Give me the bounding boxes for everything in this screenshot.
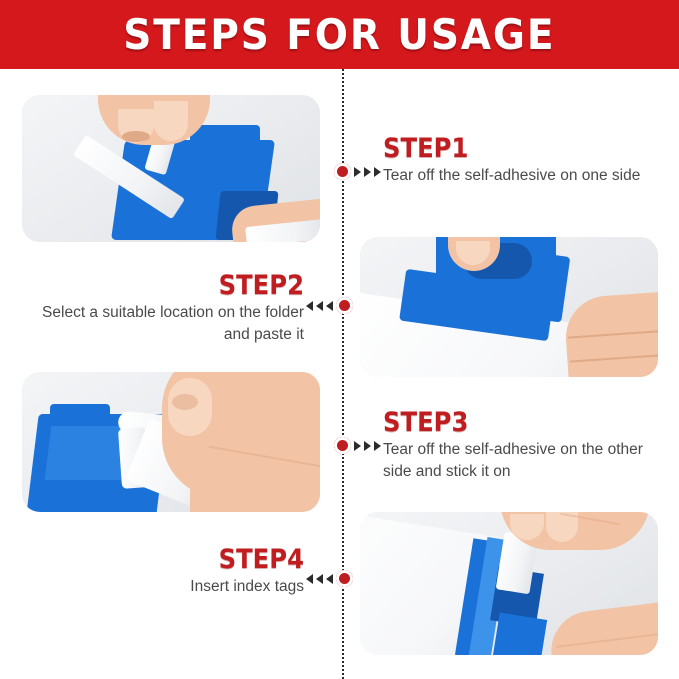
step-2-title: STEP2	[57, 272, 304, 300]
step-2-description: Select a suitable location on the folder…	[30, 302, 304, 346]
step-3-text-block: STEP3 Tear off the self-adhesive on the …	[383, 409, 655, 483]
step-3-marker	[334, 437, 381, 454]
arrow-right-icon	[354, 441, 361, 451]
step-3-description: Tear off the self-adhesive on the other …	[383, 439, 655, 483]
arrow-left-icon	[316, 574, 323, 584]
header-banner: STEPS FOR USAGE	[0, 0, 679, 69]
arrow-right-icon	[354, 167, 361, 177]
arrow-left-icon	[326, 574, 333, 584]
page-title: STEPS FOR USAGE	[123, 10, 555, 59]
step-2-photo	[360, 237, 658, 377]
step-4-marker	[306, 570, 353, 587]
arrow-left-icon	[306, 574, 313, 584]
step-1-title: STEP1	[383, 135, 628, 163]
step-1-marker	[334, 163, 381, 180]
step-1-description: Tear off the self-adhesive on one side	[383, 165, 655, 187]
bullseye-icon	[334, 437, 351, 454]
step-1-photo	[22, 95, 320, 242]
arrow-right-icon	[364, 441, 371, 451]
arrow-right-icon	[374, 167, 381, 177]
bullseye-icon	[334, 163, 351, 180]
bullseye-icon	[336, 297, 353, 314]
step-3-photo	[22, 372, 320, 512]
center-dotted-divider	[342, 69, 344, 679]
step-2-text-block: STEP2 Select a suitable location on the …	[30, 272, 304, 346]
step-4-text-block: STEP4 Insert index tags	[30, 546, 304, 598]
step-2-marker	[306, 297, 353, 314]
arrow-right-icon	[374, 441, 381, 451]
arrow-right-icon	[364, 167, 371, 177]
step-4-title: STEP4	[57, 546, 304, 574]
step-3-title: STEP3	[383, 409, 628, 437]
step-1-text-block: STEP1 Tear off the self-adhesive on one …	[383, 135, 655, 187]
bullseye-icon	[336, 570, 353, 587]
step-4-photo	[360, 512, 658, 655]
arrow-left-icon	[306, 301, 313, 311]
step-4-description: Insert index tags	[30, 576, 304, 598]
arrow-left-icon	[316, 301, 323, 311]
arrow-left-icon	[326, 301, 333, 311]
